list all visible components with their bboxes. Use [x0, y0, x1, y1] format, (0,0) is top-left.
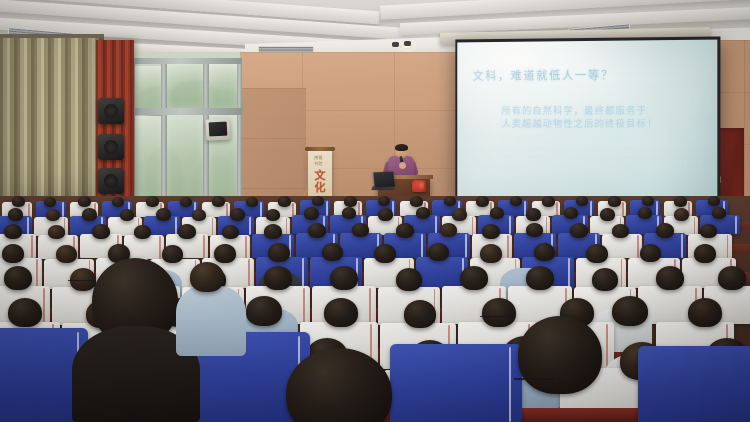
- audience-head: [564, 207, 578, 219]
- audience-head: [120, 209, 134, 221]
- audience-head: [674, 196, 687, 207]
- audience-head: [600, 208, 615, 221]
- audience-head: [612, 224, 629, 238]
- audience-head: [46, 209, 60, 221]
- audience-head: [612, 296, 648, 326]
- audience-head: [2, 244, 24, 263]
- audience-head: [480, 244, 502, 263]
- audience-head: [324, 298, 358, 327]
- projection-screen-frame: 文科，难道就低人一等？ 所有的自然科学，最终都服务于 人类超越动物性之后的终极目…: [455, 36, 720, 207]
- audience-head: [246, 296, 282, 326]
- audience-head: [642, 196, 654, 206]
- audience-head: [526, 223, 543, 237]
- presenter-hand: [399, 162, 406, 169]
- audience-head: [56, 245, 77, 263]
- laptop-screen: [373, 172, 395, 188]
- audience-head: [352, 223, 369, 237]
- floral-arrangement: [412, 180, 426, 192]
- audience-head: [526, 266, 554, 290]
- audience-head: [134, 225, 151, 239]
- audience-head: [482, 298, 516, 327]
- audience-head: [214, 244, 236, 263]
- audience-head: [190, 262, 224, 292]
- audience-head: [674, 208, 689, 221]
- audience-head: [264, 266, 292, 290]
- audience-head: [146, 196, 159, 207]
- audience-head: [510, 196, 522, 206]
- audience-head: [482, 224, 500, 239]
- lecture-hall-photo: 文科，难道就低人一等？ 所有的自然科学，最终都服务于 人类超越动物性之后的终极目…: [0, 0, 750, 422]
- wall-speaker-icon: [98, 168, 124, 194]
- window-head: [130, 58, 242, 64]
- eyeglasses-icon: [514, 378, 554, 382]
- screen-reflection: [457, 40, 717, 205]
- audience-head: [308, 223, 326, 238]
- audience-head: [304, 207, 319, 220]
- audience-head: [576, 196, 588, 206]
- audience-head: [444, 196, 456, 206]
- projection-screen: 文科，难道就低人一等？ 所有的自然科学，最终都服务于 人类超越动物性之后的终极目…: [457, 40, 717, 205]
- audience-head: [180, 197, 192, 207]
- audience-head: [212, 196, 225, 207]
- window-pane: [208, 64, 238, 110]
- audience-head: [410, 196, 423, 207]
- banner-small-text: 博雅书院: [314, 155, 326, 167]
- audience-head: [656, 223, 674, 238]
- audience-head: [330, 266, 358, 290]
- audience-head: [48, 225, 65, 239]
- wall-speaker-icon: [98, 98, 124, 124]
- audience-head: [378, 196, 390, 206]
- audience-head: [518, 316, 602, 394]
- audience-head: [404, 300, 436, 328]
- audience-head: [8, 208, 23, 221]
- track-light-icon: [392, 42, 399, 47]
- banner-rod: [305, 147, 335, 151]
- audience-head: [396, 268, 422, 291]
- seat: [390, 344, 522, 422]
- audience-head: [476, 196, 489, 207]
- audience-area: [0, 196, 750, 422]
- audience-head: [688, 298, 722, 327]
- audience-head: [156, 208, 171, 221]
- audience-head: [192, 209, 206, 221]
- audience-head: [8, 298, 42, 327]
- audience-head: [44, 197, 56, 207]
- audience-head: [178, 224, 196, 239]
- audience-head: [4, 224, 22, 239]
- audience-head: [222, 225, 239, 239]
- audience-head: [230, 208, 245, 221]
- audience-head: [4, 266, 32, 290]
- window-pane: [134, 66, 162, 112]
- audience-head: [534, 243, 555, 261]
- track-light-icon: [404, 41, 411, 46]
- audience-head: [700, 224, 717, 238]
- audience-head: [78, 196, 91, 207]
- audience-head: [656, 266, 684, 290]
- audience-head: [416, 207, 430, 219]
- audience-head: [322, 243, 343, 261]
- audience-head: [92, 224, 110, 239]
- audience-head: [712, 207, 726, 219]
- audience-head: [526, 208, 541, 221]
- eyeglasses-icon: [68, 280, 96, 283]
- audience-head: [246, 197, 258, 207]
- audience-head: [162, 245, 183, 263]
- audience-head: [396, 223, 414, 238]
- audience-head: [374, 244, 396, 263]
- audience-head: [592, 268, 618, 291]
- audience-head: [586, 244, 608, 263]
- audience-head: [542, 196, 555, 207]
- audience-head: [378, 208, 393, 221]
- audience-head: [12, 196, 25, 207]
- audience-head: [344, 196, 357, 207]
- audience-head: [608, 196, 621, 207]
- seat: [638, 346, 750, 422]
- presenter-hair: [395, 144, 408, 151]
- window-transom: [130, 108, 242, 115]
- monitor-screen: [209, 122, 228, 137]
- audience-head: [694, 244, 716, 263]
- audience-head: [570, 223, 588, 238]
- audience-head: [268, 243, 290, 262]
- audience-head: [708, 196, 720, 206]
- audience-head: [428, 243, 449, 261]
- eyeglasses-icon: [480, 316, 514, 319]
- audience-head: [718, 266, 746, 290]
- audience-head: [640, 244, 661, 262]
- audience-head: [490, 207, 504, 219]
- audience-head: [460, 266, 488, 290]
- audience-head: [112, 197, 124, 207]
- audience-head: [342, 207, 356, 219]
- audience-head: [264, 224, 282, 239]
- audience-head: [266, 209, 280, 221]
- audience-head: [440, 223, 457, 237]
- audience-head: [278, 196, 291, 207]
- audience-head: [312, 196, 324, 206]
- audience-head: [82, 208, 97, 221]
- audience-head: [452, 208, 467, 221]
- window-pane: [166, 62, 204, 108]
- audience-shoulders: [176, 286, 246, 356]
- wall-monitor: [205, 118, 230, 140]
- audience-head: [638, 207, 652, 219]
- wall-speaker-icon: [98, 134, 124, 160]
